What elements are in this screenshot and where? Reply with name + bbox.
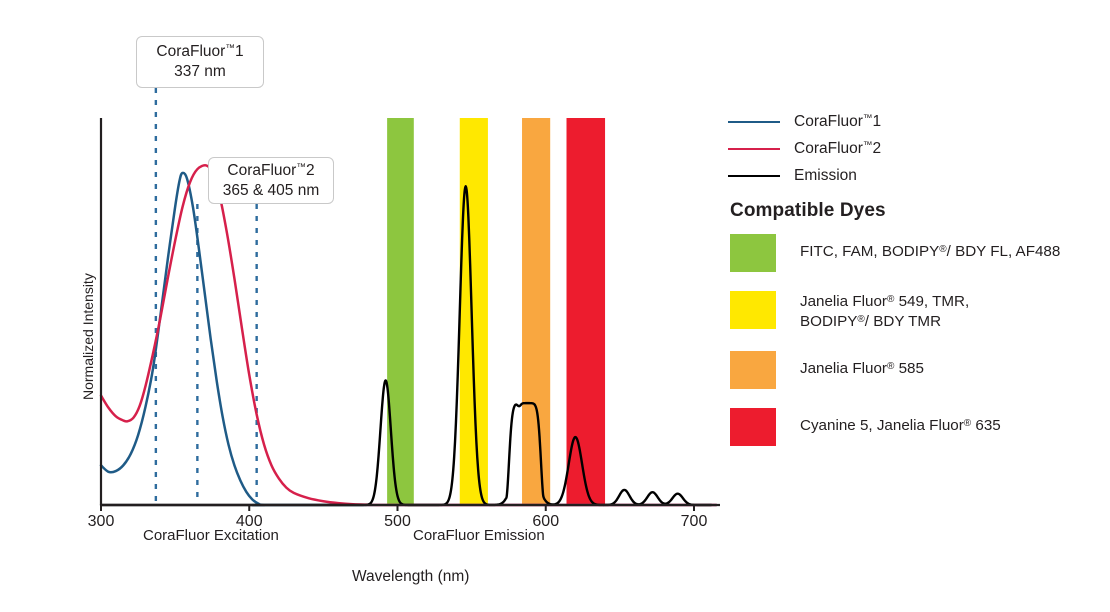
x-tick-label-600: 600 — [516, 513, 576, 531]
dye-label: Cyanine 5, Janelia Fluor® 635 — [800, 408, 1001, 436]
annotation-value: 337 nm — [147, 62, 253, 82]
dye-label-line1: Janelia Fluor® 549, TMR, — [800, 293, 969, 310]
dye-color-swatch — [730, 408, 776, 446]
legend-line-swatch — [728, 148, 780, 150]
dye-label-line1: Janelia Fluor® 585 — [800, 360, 924, 377]
x-tick-label-400: 400 — [219, 513, 279, 531]
legend-row-1: CoraFluor™2 — [728, 135, 1098, 162]
legend-row-2: Emission — [728, 162, 1098, 189]
dye-label: FITC, FAM, BODIPY®/ BDY FL, AF488 — [800, 234, 1060, 262]
dye-label: Janelia Fluor® 549, TMR,BODIPY®/ BDY TMR — [800, 291, 969, 332]
dye-color-swatch — [730, 234, 776, 272]
dye-color-swatch — [730, 351, 776, 389]
annotation-label: CoraFluor™2 — [219, 161, 323, 181]
dye-row-2: Janelia Fluor® 585 — [730, 351, 1102, 389]
dye-label-line1: FITC, FAM, BODIPY®/ BDY FL, AF488 — [800, 243, 1060, 260]
legend-line-swatch — [728, 121, 780, 123]
x-tick-label-700: 700 — [664, 513, 724, 531]
legend-row-0: CoraFluor™1 — [728, 108, 1098, 135]
x-tick-label-300: 300 — [71, 513, 131, 531]
dye-row-0: FITC, FAM, BODIPY®/ BDY FL, AF488 — [730, 234, 1102, 272]
annotation-label: CoraFluor™1 — [147, 42, 253, 62]
annotation-box-corafluor1: CoraFluor™1 337 nm — [136, 36, 264, 88]
compatible-dyes-title: Compatible Dyes — [730, 200, 886, 222]
legend-line-swatch — [728, 175, 780, 177]
dye-row-1: Janelia Fluor® 549, TMR,BODIPY®/ BDY TMR — [730, 291, 1102, 332]
legend-label: Emission — [794, 167, 857, 185]
series-legend: CoraFluor™1CoraFluor™2Emission — [728, 108, 1098, 189]
compatible-dyes-list: FITC, FAM, BODIPY®/ BDY FL, AF488Janelia… — [730, 234, 1102, 465]
x-tick-label-500: 500 — [368, 513, 428, 531]
dye-label: Janelia Fluor® 585 — [800, 351, 924, 379]
band-orange — [522, 118, 550, 505]
legend-label: CoraFluor™1 — [794, 113, 881, 131]
legend-label: CoraFluor™2 — [794, 140, 881, 158]
dye-color-swatch — [730, 291, 776, 329]
band-yellow — [460, 118, 488, 505]
y-axis-title: Normalized Intensity — [80, 273, 96, 400]
annotation-box-corafluor2: CoraFluor™2 365 & 405 nm — [208, 157, 334, 204]
annotation-value: 365 & 405 nm — [219, 181, 323, 201]
dye-row-3: Cyanine 5, Janelia Fluor® 635 — [730, 408, 1102, 446]
dye-label-line1: Cyanine 5, Janelia Fluor® 635 — [800, 417, 1001, 434]
x-axis-title: Wavelength (nm) — [352, 568, 469, 586]
dye-label-line2: BODIPY®/ BDY TMR — [800, 313, 941, 330]
spectra-chart: CoraFluor™1 337 nm CoraFluor™2 365 & 405… — [0, 0, 1110, 612]
